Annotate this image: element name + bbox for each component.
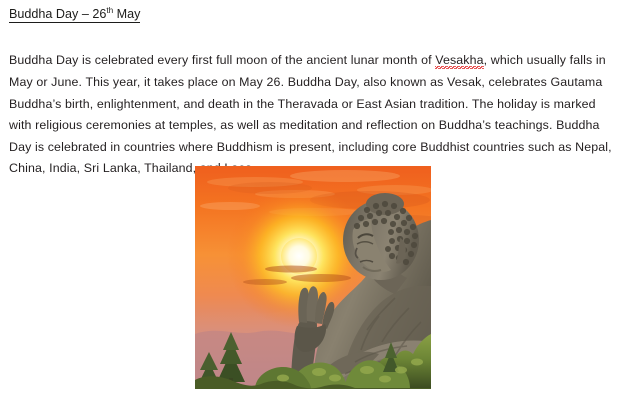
page-title: Buddha Day – 26th May	[9, 6, 140, 22]
document-page: Buddha Day – 26th May Buddha Day is cele…	[0, 0, 626, 403]
page-title-main: Buddha Day – 26	[9, 7, 106, 21]
body-paragraph: Buddha Day is celebrated every first ful…	[9, 50, 617, 180]
misspelled-word: Vesakha	[435, 53, 483, 69]
buddha-sunset-illustration	[195, 166, 431, 389]
buddha-sunset-image	[195, 166, 431, 389]
page-title-tail: May	[113, 7, 140, 21]
paragraph-segment-1: Buddha Day is celebrated every first ful…	[9, 53, 435, 67]
paragraph-segment-2: , which usually falls in May or June. Th…	[9, 53, 612, 175]
